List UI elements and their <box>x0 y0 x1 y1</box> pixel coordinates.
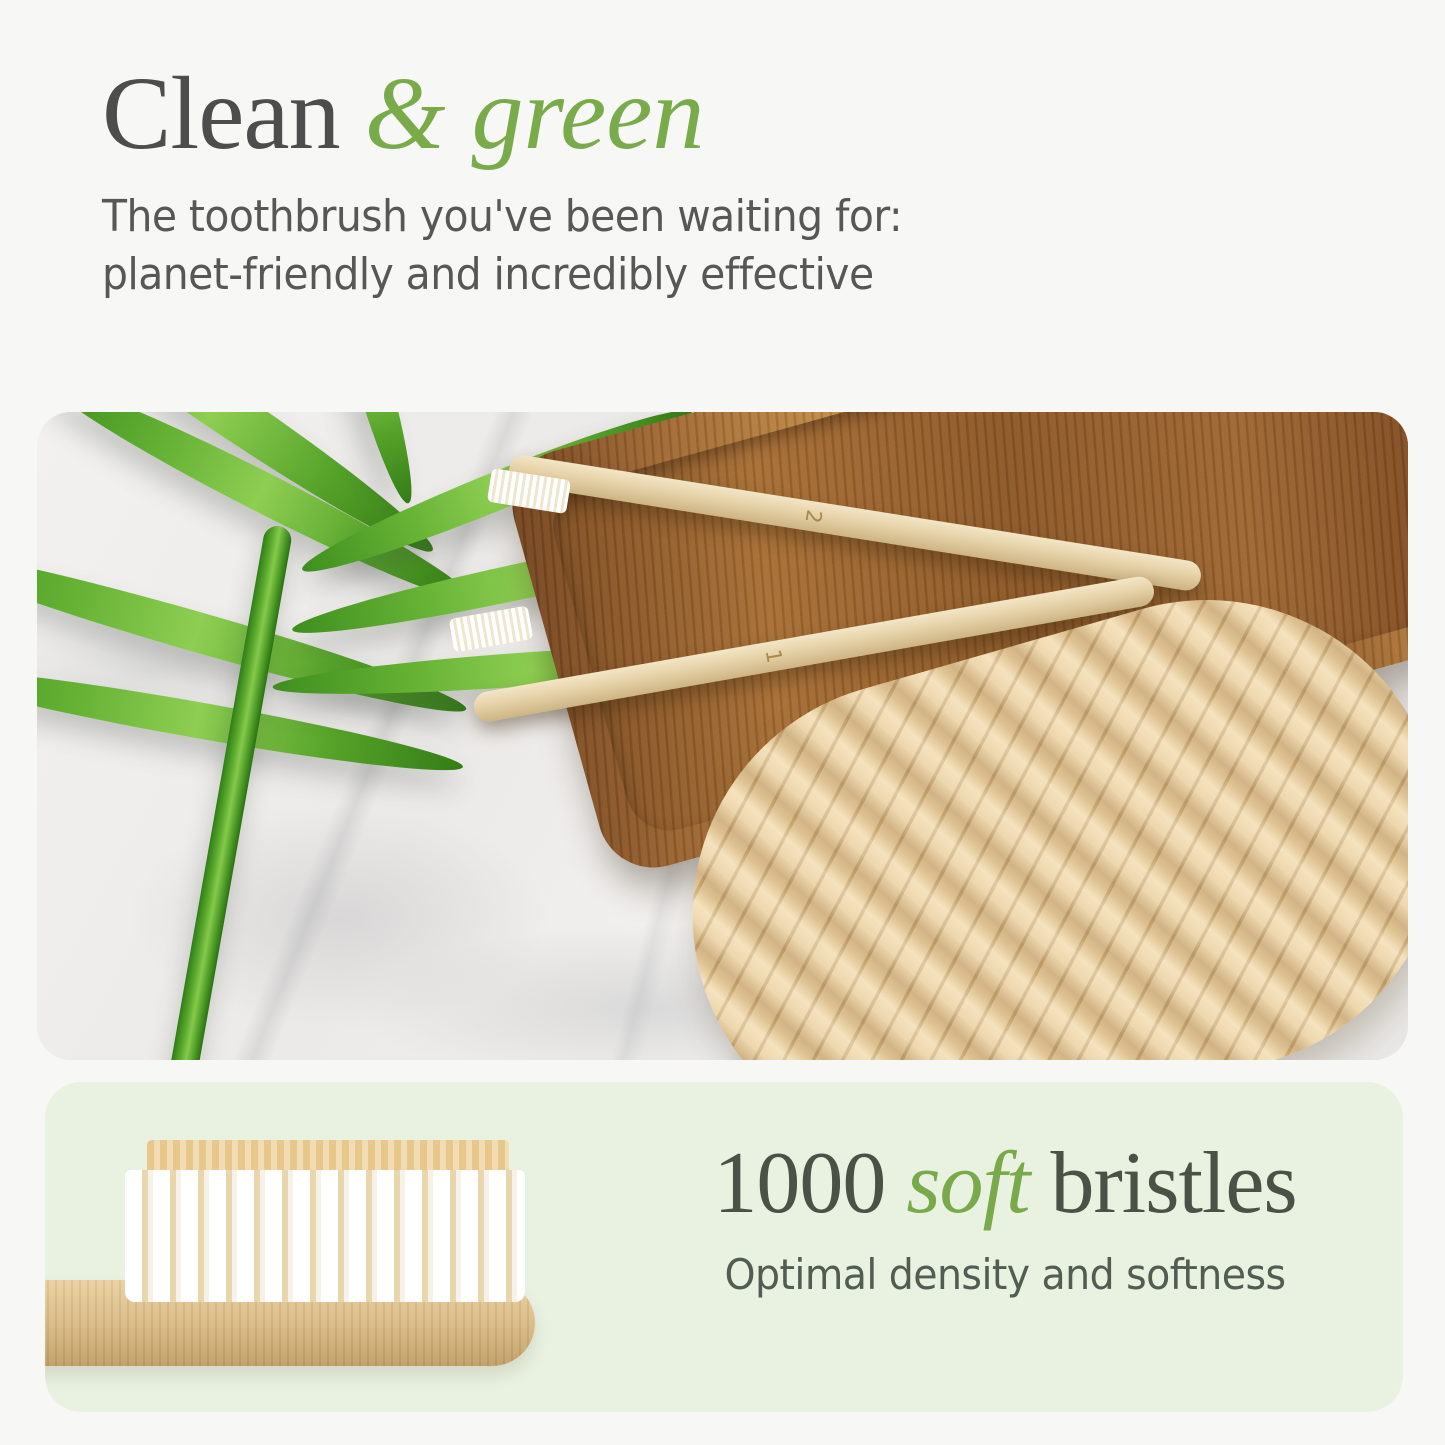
page-subtitle: The toothbrush you've been waiting for: … <box>102 188 1255 304</box>
bristle-front-row <box>125 1170 525 1302</box>
product-photo: 2 1 VIVA 10 PACK 10 PACK SOFT VIVAGO BOO <box>37 412 1408 1060</box>
subtitle-line-2: planet-friendly and incredibly effective <box>102 249 874 300</box>
subtitle-line-1: The toothbrush you've been waiting for: <box>102 191 902 242</box>
brush-bristle-cluster <box>125 1140 525 1300</box>
headline-accent: & green <box>365 56 705 171</box>
toothbrush-2-number: 2 <box>801 508 827 525</box>
feature-title-part1: 1000 <box>713 1135 906 1232</box>
feature-title: 1000 soft bristles <box>625 1138 1385 1230</box>
bristle-closeup-image <box>45 1112 635 1412</box>
feature-panel: 1000 soft bristles Optimal density and s… <box>45 1082 1403 1412</box>
feature-text-block: 1000 soft bristles Optimal density and s… <box>625 1138 1385 1299</box>
feature-subtitle: Optimal density and softness <box>648 1250 1362 1299</box>
toothbrush-1-number: 1 <box>760 648 786 665</box>
header-block: Clean & green The toothbrush you've been… <box>102 58 1342 304</box>
feature-title-accent: soft <box>906 1135 1029 1232</box>
headline-primary: Clean <box>102 56 365 171</box>
page-title: Clean & green <box>102 58 1342 170</box>
feature-title-part2: bristles <box>1029 1135 1296 1232</box>
